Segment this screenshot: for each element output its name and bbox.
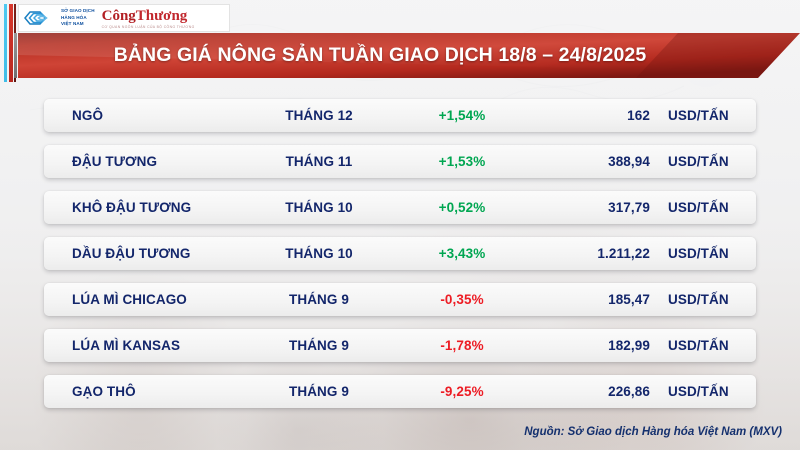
cong-thuong-wordmark: CôngThương [102,8,195,24]
commodity-name: NGÔ [44,108,244,123]
price-unit: USD/TẤN [650,200,729,215]
title-band: BẢNG GIÁ NÔNG SẢN TUẦN GIAO DỊCH 18/8 – … [18,33,800,78]
infographic-canvas: SỞ GIAO DỊCH HÀNG HÓA VIỆT NAM CôngThươn… [0,0,800,450]
price-change: +1,54% [394,108,530,123]
commodity-name: GẠO THÔ [44,384,244,399]
table-row[interactable]: KHÔ ĐẬU TƯƠNG THÁNG 10 +0,52% 317,79 USD… [44,191,756,224]
price-unit: USD/TẤN [650,292,729,307]
price-value: 182,99 [530,338,650,353]
price-change: +3,43% [394,246,530,261]
mxv-line-1: SỞ GIAO DỊCH [61,8,95,15]
cong-thuong-word-1: Công [102,8,136,24]
table-row[interactable]: ĐẬU TƯƠNG THÁNG 11 +1,53% 388,94 USD/TẤN [44,145,756,178]
contract-month: THÁNG 12 [244,108,394,123]
price-unit: USD/TẤN [650,246,729,261]
table-row[interactable]: NGÔ THÁNG 12 +1,54% 162 USD/TẤN [44,99,756,132]
mxv-wave-logo-icon [23,8,57,28]
mxv-logo-text: SỞ GIAO DỊCH HÀNG HÓA VIỆT NAM [61,8,95,28]
contract-month: THÁNG 11 [244,154,394,169]
stripe-cyan [4,4,7,82]
price-value: 388,94 [530,154,650,169]
commodity-name: LÚA MÌ CHICAGO [44,292,244,307]
contract-month: THÁNG 9 [244,384,394,399]
contract-month: THÁNG 9 [244,338,394,353]
price-change: -9,25% [394,384,530,399]
commodity-price-table: NGÔ THÁNG 12 +1,54% 162 USD/TẤN ĐẬU TƯƠN… [44,99,756,408]
contract-month: THÁNG 10 [244,246,394,261]
price-value: 1.211,22 [530,246,650,261]
table-row[interactable]: LÚA MÌ CHICAGO THÁNG 9 -0,35% 185,47 USD… [44,283,756,316]
page-title: BẢNG GIÁ NÔNG SẢN TUẦN GIAO DỊCH 18/8 – … [18,33,742,78]
source-caption: Nguồn: Sở Giao dịch Hàng hóa Việt Nam (M… [524,426,782,438]
table-row[interactable]: GẠO THÔ THÁNG 9 -9,25% 226,86 USD/TẤN [44,375,756,408]
commodity-name: ĐẬU TƯƠNG [44,154,244,169]
price-value: 162 [530,108,650,123]
mxv-line-3: VIỆT NAM [61,21,95,28]
cong-thuong-word-2: Thương [136,8,188,24]
price-value: 185,47 [530,292,650,307]
cong-thuong-tagline: CƠ QUAN NGÔN LUẬN CỦA BỘ CÔNG THƯƠNG [102,25,195,29]
price-unit: USD/TẤN [650,154,729,169]
logo-bar: SỞ GIAO DỊCH HÀNG HÓA VIỆT NAM CôngThươn… [18,4,230,32]
stripe-red [9,4,13,82]
title-band-left-edge [14,33,17,78]
price-unit: USD/TẤN [650,384,729,399]
table-row[interactable]: DẦU ĐẬU TƯƠNG THÁNG 10 +3,43% 1.211,22 U… [44,237,756,270]
price-change: +1,53% [394,154,530,169]
commodity-name: KHÔ ĐẬU TƯƠNG [44,200,244,215]
contract-month: THÁNG 10 [244,200,394,215]
table-row[interactable]: LÚA MÌ KANSAS THÁNG 9 -1,78% 182,99 USD/… [44,329,756,362]
price-value: 226,86 [530,384,650,399]
cong-thuong-logo: CôngThương CƠ QUAN NGÔN LUẬN CỦA BỘ CÔNG… [102,8,195,29]
price-change: -1,78% [394,338,530,353]
price-change: -0,35% [394,292,530,307]
price-change: +0,52% [394,200,530,215]
contract-month: THÁNG 9 [244,292,394,307]
commodity-name: DẦU ĐẬU TƯƠNG [44,246,244,261]
price-unit: USD/TẤN [650,108,729,123]
commodity-name: LÚA MÌ KANSAS [44,338,244,353]
price-value: 317,79 [530,200,650,215]
price-unit: USD/TẤN [650,338,729,353]
